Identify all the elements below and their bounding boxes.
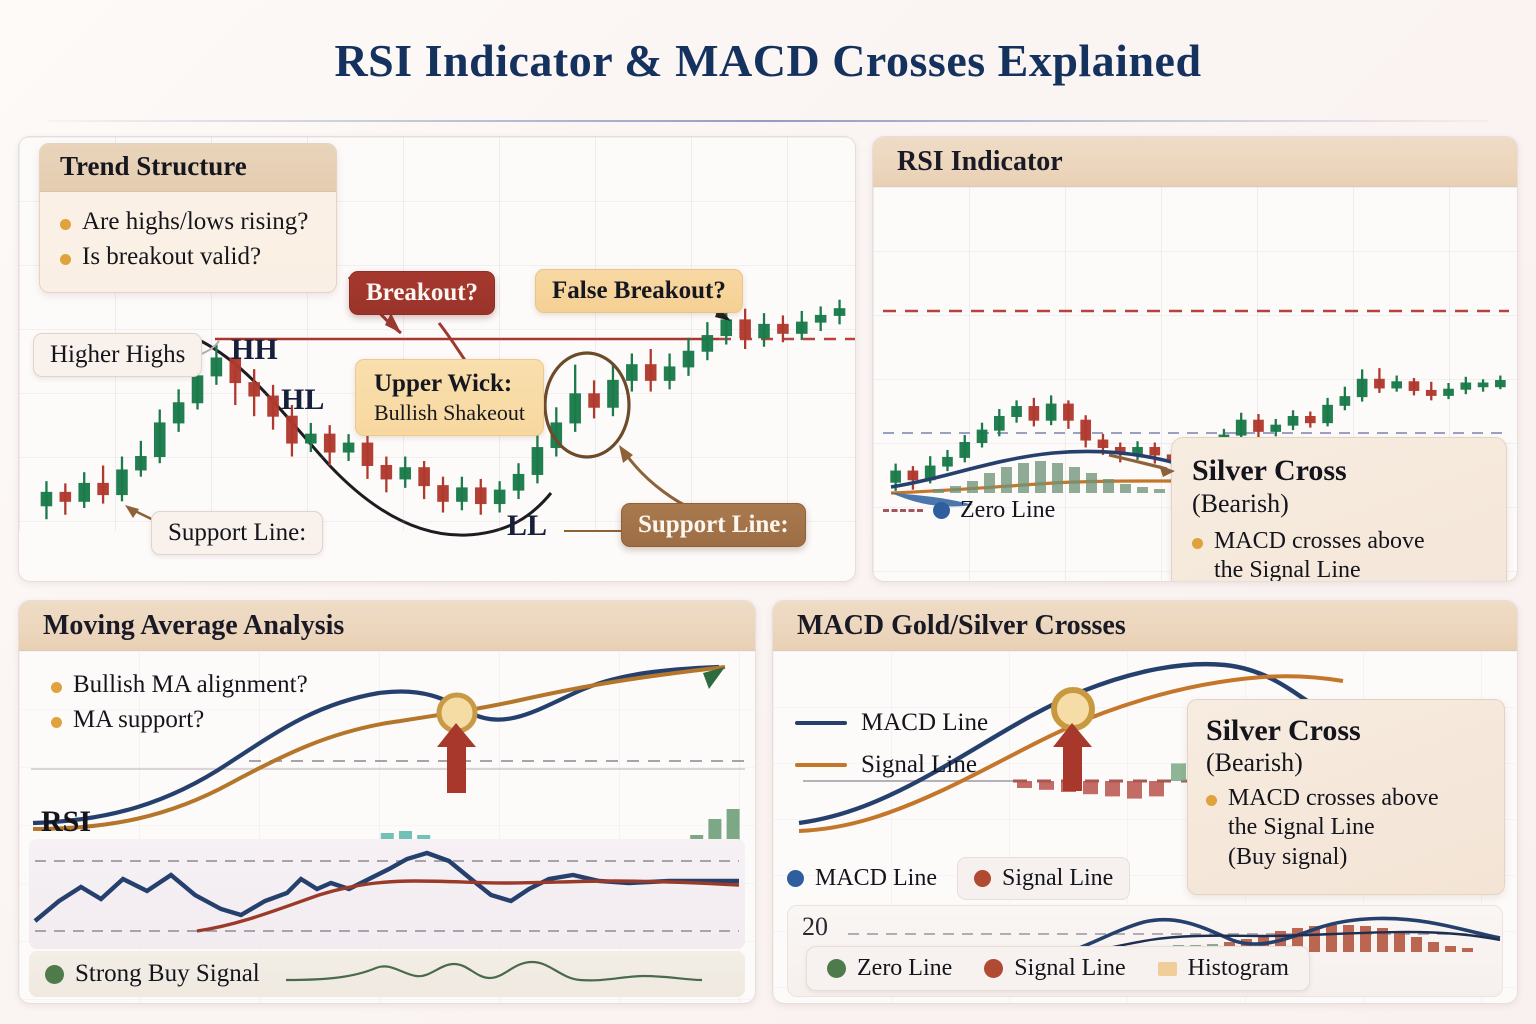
zero-line-dot-icon [827,959,846,978]
bullet-label: Is breakout valid? [82,243,261,272]
ma-chart-area: Bullish MA alignment? MA support? RSI [19,651,755,1003]
macd-chart-area: MACD Line Signal Line Silver Cross (Bear… [773,651,1517,1003]
bullet-item: Are highs/lows rising? [60,208,316,237]
ma-bullet-list: Bullish MA alignment? MA support? [31,655,328,755]
callout-line2: the Signal Line [1228,813,1439,842]
label-support-line-left: Support Line: [151,511,323,555]
legend-label: Zero Line [960,497,1055,524]
ma-rsi-subchart: RSI [29,839,745,949]
macd-bottom-legend: MACD Line Signal Line [787,857,1130,900]
panel-header-ma: Moving Average Analysis [19,601,755,651]
legend-label: Zero Line [857,955,952,982]
macd-inline-legend: MACD Line Signal Line [795,709,988,779]
ma-rsi-svg [29,839,745,949]
bullet-label: MA support? [73,706,204,735]
label-support-line-right: Support Line: [621,503,806,547]
subchart-axis-label: 20 [802,912,828,942]
bullet-item: MA support? [51,706,308,735]
legend-item: MACD Line [787,865,937,892]
panel-header-rsi: RSI Indicator [873,137,1517,187]
signal-dot-icon [974,870,991,887]
callout-subtitle: (Bearish) [1206,748,1486,778]
label-hh: HH [231,333,278,367]
strong-buy-label: Strong Buy Signal [75,960,260,988]
label-upper-wick: Upper Wick: Bullish Shakeout [355,359,544,436]
legend-label: Histogram [1188,955,1289,982]
strong-buy-sparkline [284,954,704,994]
legend-item: Signal Line [795,751,988,779]
legend-zero-line: Zero Line [883,497,1055,524]
callout-line1: MACD crosses above [1228,784,1439,813]
legend-item: Signal Line [984,955,1125,982]
bullet-dot-icon [1206,795,1217,806]
bullet-label: Bullish MA alignment? [73,671,308,700]
signal-line-swatch-icon [795,763,847,767]
label-hl: HL [281,383,324,417]
bullet-dot-icon [51,717,62,728]
bullet-label: Are highs/lows rising? [82,208,308,237]
ma-strong-buy-strip: Strong Buy Signal [29,951,745,997]
macd-line-swatch-icon [795,721,847,725]
callout-silver-cross-macd: Silver Cross (Bearish) MACD crosses abov… [1187,699,1505,895]
legend-label: Signal Line [1002,865,1113,892]
trend-chart-area: Trend Structure Are highs/lows rising? I… [19,137,855,531]
infographic-page: RSI Indicator & MACD Crosses Explained [0,0,1536,1024]
legend-label: MACD Line [861,709,988,737]
bullet-dot-icon [51,682,62,693]
bullet-item: MACD crosses above the Signal Line (Sell… [1192,527,1486,582]
callout-line2: the Signal Line [1214,556,1425,582]
signal-line-dot-icon [984,959,1003,978]
panel-title: Moving Average Analysis [43,610,344,642]
dashed-line-icon [883,509,923,512]
panel-moving-average: Moving Average Analysis Bullish [18,600,756,1004]
callout-title: Silver Cross [1192,454,1486,488]
upper-wick-line2: Bullish Shakeout [374,399,525,427]
legend-label: Signal Line [1014,955,1125,982]
callout-line1: MACD crosses above [1214,527,1425,556]
callout-silver-cross-rsi: Silver Cross (Bearish) MACD crosses abov… [1171,437,1507,582]
legend-label: Signal Line [861,751,977,779]
bullet-dot-icon [1192,538,1203,549]
bullet-item: MACD crosses above the Signal Line (Buy … [1206,784,1486,872]
rsi-line [35,853,739,921]
macd-dot-icon [787,870,804,887]
legend-item: Histogram [1158,955,1289,982]
panel-title: RSI Indicator [897,146,1063,178]
zero-line-dot-icon [933,502,950,519]
macd-subchart: 20 Zero Line Signal Line Histogram [787,905,1503,997]
page-title: RSI Indicator & MACD Crosses Explained [0,34,1536,87]
legend-item: MACD Line [795,709,988,737]
panel-header-macd: MACD Gold/Silver Crosses [773,601,1517,651]
panel-macd-crosses: MACD Gold/Silver Crosses MACD Line [772,600,1518,1004]
rsi-signal-line [197,881,739,931]
legend-item: Zero Line [827,955,952,982]
bullet-item: Bullish MA alignment? [51,671,308,700]
bullet-dot-icon [60,254,71,265]
callout-line3: (Buy signal) [1228,843,1439,872]
callout-title: Silver Cross [1206,714,1486,748]
macd-subchart-legend: Zero Line Signal Line Histogram [806,946,1310,991]
histogram-swatch-icon [1158,962,1177,976]
label-breakout: Breakout? [349,271,495,315]
legend-item: Signal Line [957,857,1130,900]
callout-trend-structure: Trend Structure Are highs/lows rising? I… [39,143,337,293]
panel-trend-structure: Trend Structure Are highs/lows rising? I… [18,136,856,582]
callout-title: Trend Structure [40,144,336,192]
label-higher-highs: Higher Highs [33,333,202,377]
label-false-breakout: False Breakout? [535,269,743,313]
panel-rsi-indicator: RSI Indicator Zero Line [872,136,1518,582]
bullet-dot-icon [60,219,71,230]
callout-bullet-list: Are highs/lows rising? Is breakout valid… [40,192,336,292]
panel-title: MACD Gold/Silver Crosses [797,610,1126,642]
title-divider [48,120,1488,122]
label-ll: LL [507,509,547,543]
rsi-chart-area: Zero Line Silver Cross (Bearish) MACD cr… [873,187,1517,581]
rsi-subchart-label: RSI [41,805,91,839]
strong-buy-dot-icon [45,965,64,984]
callout-subtitle: (Bearish) [1192,489,1486,519]
upper-wick-line1: Upper Wick: [374,368,525,399]
bullet-item: Is breakout valid? [60,243,316,272]
legend-label: MACD Line [815,865,937,892]
